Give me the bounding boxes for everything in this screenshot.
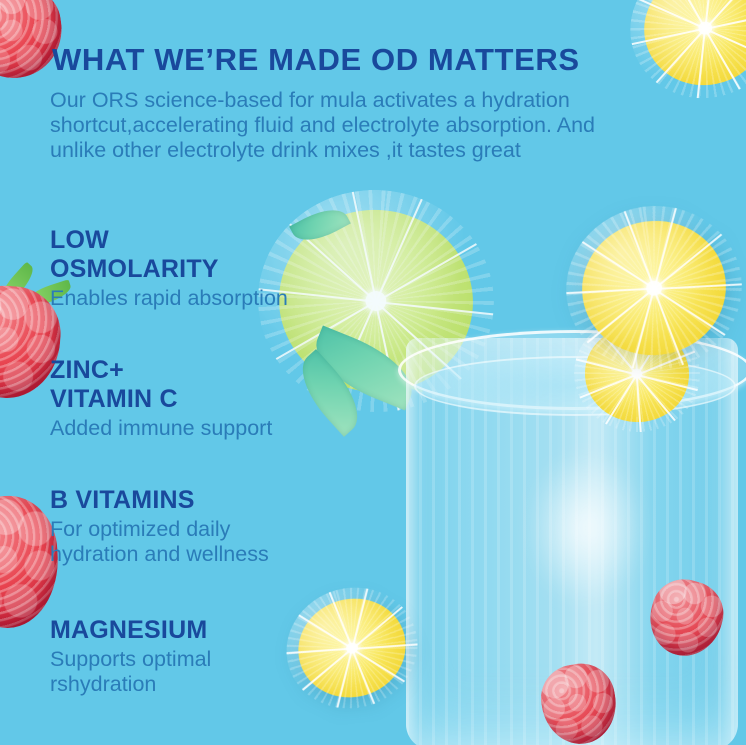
benefit-item: B VITAMINS For optimized daily hydration… xyxy=(50,486,269,567)
intro-paragraph: Our ORS science-based for mula activates… xyxy=(50,88,610,163)
benefit-description: Enables rapid absorption xyxy=(50,286,288,311)
product-benefits-poster: WHAT WE’RE MADE OD MATTERS Our ORS scien… xyxy=(0,0,746,745)
benefit-item: ZINC+ VITAMIN C Added immune support xyxy=(50,356,272,441)
benefit-item: LOW OSMOLARITY Enables rapid absorption xyxy=(50,226,288,311)
text-layer: WHAT WE’RE MADE OD MATTERS Our ORS scien… xyxy=(0,0,746,745)
benefit-title: MAGNESIUM xyxy=(50,616,211,645)
benefit-title: B VITAMINS xyxy=(50,486,269,515)
benefit-item: MAGNESIUM Supports optimal rshydration xyxy=(50,616,211,697)
benefit-description: Supports optimal rshydration xyxy=(50,647,211,697)
benefit-description: For optimized daily hydration and wellne… xyxy=(50,517,269,567)
benefit-title: ZINC+ VITAMIN C xyxy=(50,356,272,414)
benefit-title: LOW OSMOLARITY xyxy=(50,226,288,284)
benefit-description: Added immune support xyxy=(50,416,272,441)
page-title: WHAT WE’RE MADE OD MATTERS xyxy=(52,42,580,78)
